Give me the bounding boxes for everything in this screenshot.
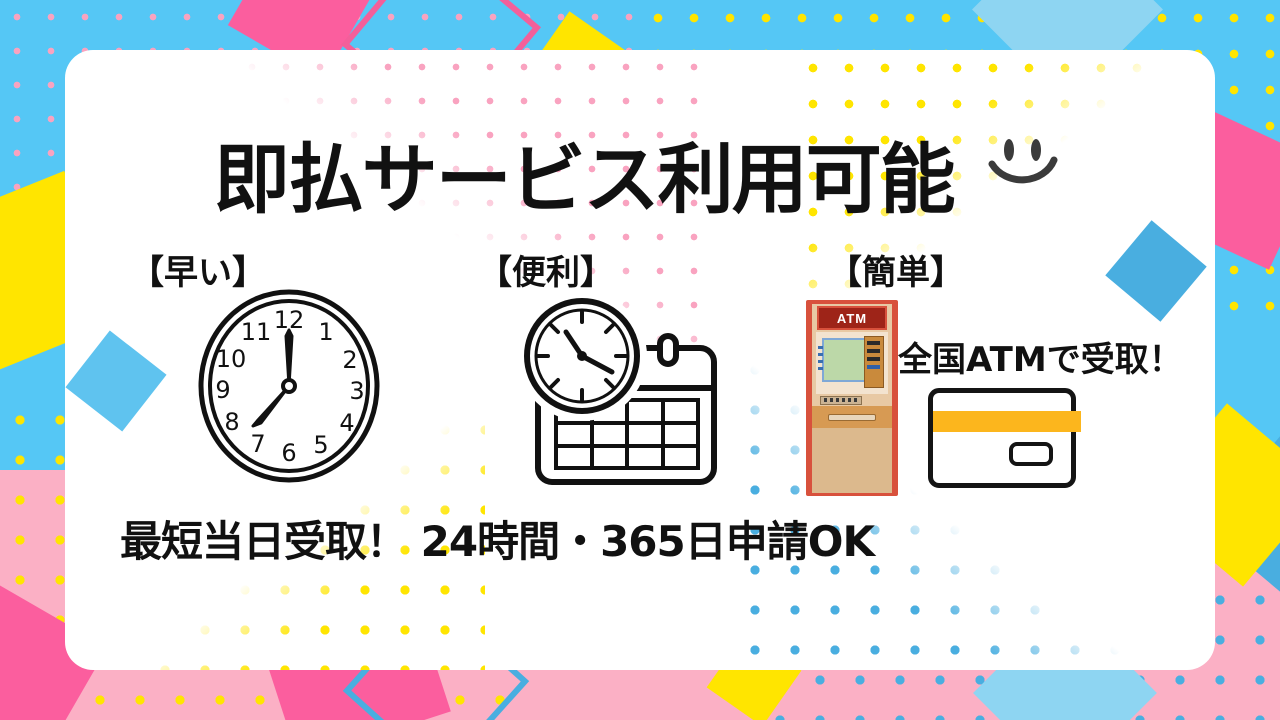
- credit-card-icon: [928, 388, 1076, 488]
- promo-banner: 即払サービス利用可能 【早い】 【便利】 【簡単】 12 1: [0, 0, 1280, 720]
- svg-text:4: 4: [339, 409, 354, 437]
- credit-card-magnetic-stripe: [933, 411, 1081, 432]
- svg-text:1: 1: [318, 318, 333, 346]
- atm-lower-body: [812, 428, 892, 493]
- atm-keypad: [820, 396, 862, 405]
- feature-label-row: 【早い】 【便利】 【簡単】: [0, 245, 1280, 291]
- content-layer: 即払サービス利用可能 【早い】 【便利】 【簡単】 12 1: [0, 0, 1280, 720]
- page-title: 即払サービス利用可能: [0, 118, 1280, 228]
- svg-text:6: 6: [281, 439, 296, 467]
- svg-text:11: 11: [241, 318, 272, 346]
- calendar-clock-icon: [512, 296, 724, 493]
- analog-clock-icon: 12 1 2 3 4 5 6 7 8 9 10 11: [198, 288, 380, 489]
- svg-text:8: 8: [224, 408, 239, 436]
- svg-text:9: 9: [215, 376, 230, 404]
- bottom-tagline: 最短当日受取！ 24時間・365日申請OK: [120, 508, 874, 569]
- smiley-face-icon: [984, 129, 1066, 218]
- atm-shelf: [812, 406, 892, 428]
- credit-card-outline: [928, 388, 1076, 488]
- atm-caption: 全国ATMで受取！: [898, 332, 1183, 381]
- atm-machine-icon: ATM: [806, 300, 898, 496]
- atm-sign: ATM: [817, 306, 887, 330]
- feature-label-easy: 【簡単】: [828, 245, 964, 294]
- feature-label-fast: 【早い】: [130, 245, 266, 294]
- svg-text:7: 7: [250, 430, 265, 458]
- atm-screen: [822, 338, 870, 382]
- atm-screen-button: [818, 346, 823, 349]
- svg-text:3: 3: [349, 377, 364, 405]
- atm-screen-button: [818, 353, 823, 356]
- feature-label-convenient: 【便利】: [478, 245, 614, 294]
- atm-screen-button: [818, 367, 823, 370]
- headline-text: 即払サービス利用可能: [214, 118, 954, 228]
- atm-upper-panel: [816, 332, 888, 394]
- atm-screen-button: [818, 360, 823, 363]
- atm-card-slot-panel: [864, 336, 884, 388]
- atm-sign-label: ATM: [837, 311, 867, 326]
- atm-cash-dispenser-slot: [828, 414, 876, 421]
- svg-text:2: 2: [342, 346, 357, 374]
- svg-text:5: 5: [313, 431, 328, 459]
- svg-text:10: 10: [216, 345, 247, 373]
- credit-card-chip: [1009, 442, 1053, 466]
